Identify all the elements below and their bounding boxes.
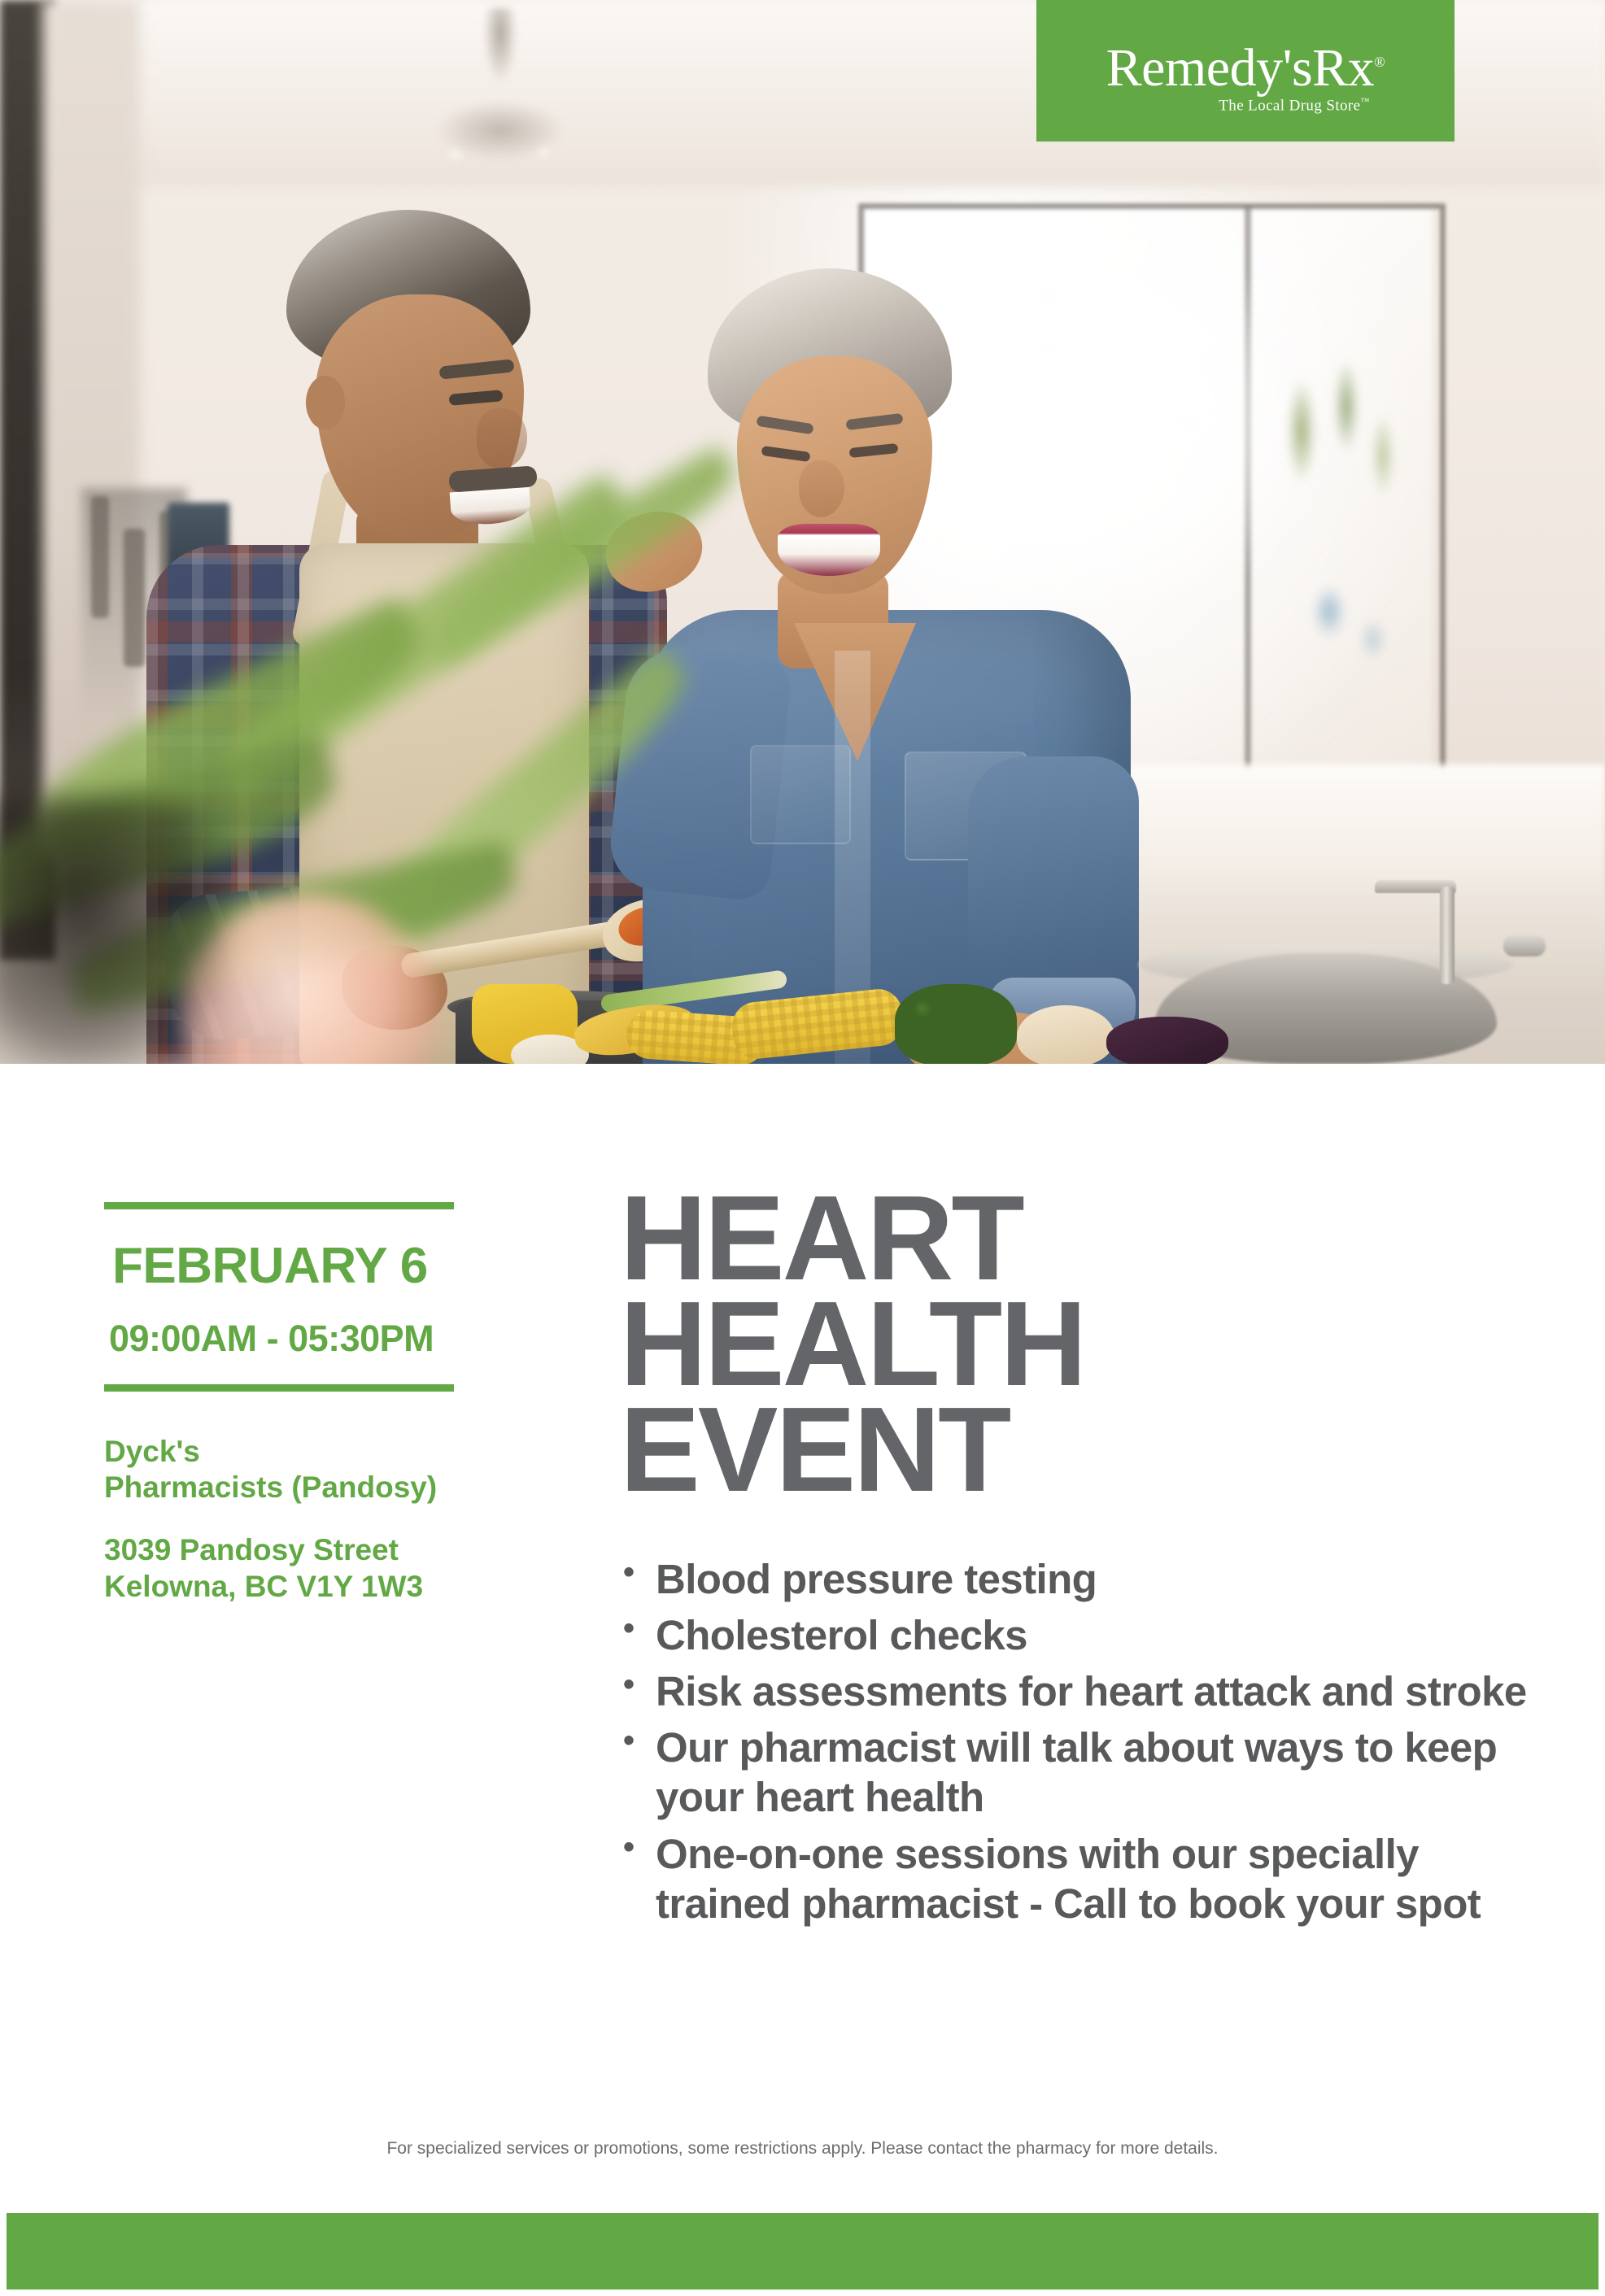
pharmacy-name-line1: Dyck's: [104, 1434, 462, 1470]
blouse-pocket: [750, 745, 851, 844]
service-list: Blood pressure testing Cholesterol check…: [620, 1554, 1547, 1928]
event-time: 09:00AM - 05:30PM: [109, 1318, 462, 1360]
address-line2: Kelowna, BC V1Y 1W3: [104, 1569, 462, 1605]
foreground-shadow: [0, 797, 228, 1064]
man-nose: [477, 408, 527, 468]
brand-logo: Remedy'sRx® The Local Drug Store™: [1036, 0, 1455, 142]
page-title: HEART HEALTH EVENT: [620, 1186, 1547, 1504]
event-headline-column: HEART HEALTH EVENT Blood pressure testin…: [620, 1186, 1547, 1935]
list-item: Cholesterol checks: [620, 1610, 1547, 1660]
registered-trademark-icon: ®: [1374, 54, 1385, 70]
poster-content: FEBRUARY 6 09:00AM - 05:30PM Dyck's Phar…: [0, 1064, 1605, 2296]
faucet-handle: [1503, 935, 1546, 956]
list-item: Our pharmacist will talk about ways to k…: [620, 1723, 1547, 1822]
blue-decor-items: [1302, 561, 1399, 675]
logo-name-text: Remedy'sRx: [1106, 38, 1375, 98]
broccoli: [895, 984, 1017, 1064]
man-smile: [450, 487, 532, 527]
address-line1: 3039 Pandosy Street: [104, 1532, 462, 1568]
logo-tagline-text: The Local Drug Store: [1219, 97, 1360, 114]
title-line-2: HEALTH: [620, 1292, 1547, 1397]
trademark-icon: ™: [1361, 97, 1370, 107]
event-date: FEBRUARY 6: [112, 1237, 462, 1295]
logo-wordmark: Remedy'sRx®: [1106, 41, 1385, 95]
woman-laughing: [643, 268, 1204, 1064]
divider-top: [104, 1202, 454, 1209]
event-details-column: FEBRUARY 6 09:00AM - 05:30PM Dyck's Phar…: [104, 1202, 462, 1605]
onion: [1017, 1005, 1114, 1064]
eggplant: [1106, 1017, 1228, 1064]
fresh-vegetables: [504, 960, 1236, 1064]
list-item: Blood pressure testing: [620, 1554, 1547, 1604]
faucet: [1440, 887, 1455, 984]
chandelier: [407, 8, 594, 195]
woman-laughing-mouth: [778, 524, 880, 576]
logo-tagline: The Local Drug Store™: [1219, 97, 1369, 115]
corn-cob: [730, 987, 905, 1061]
footer-bar: [7, 2213, 1598, 2289]
title-line-3: EVENT: [620, 1397, 1547, 1503]
list-item: Risk assessments for heart attack and st…: [620, 1666, 1547, 1716]
title-line-1: HEART: [620, 1186, 1547, 1292]
disclaimer-text: For specialized services or promotions, …: [0, 2139, 1605, 2159]
outdoor-plant: [1269, 342, 1424, 586]
divider-bottom: [104, 1384, 454, 1392]
pharmacy-name-line2: Pharmacists (Pandosy): [104, 1470, 462, 1505]
pharmacy-name: Dyck's Pharmacists (Pandosy): [104, 1434, 462, 1505]
hero-photo: Remedy'sRx® The Local Drug Store™: [0, 0, 1605, 1064]
list-item: One-on-one sessions with our specially t…: [620, 1829, 1547, 1928]
pharmacy-address: 3039 Pandosy Street Kelowna, BC V1Y 1W3: [104, 1532, 462, 1605]
man-ear: [306, 376, 345, 429]
